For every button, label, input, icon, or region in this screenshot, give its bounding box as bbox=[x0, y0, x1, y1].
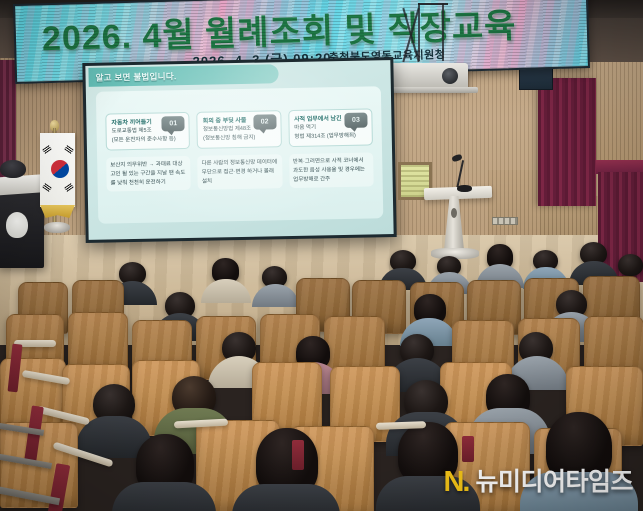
audience-shoulders bbox=[112, 482, 216, 511]
wall-outlet-icon bbox=[492, 217, 518, 225]
taegeuk-icon bbox=[51, 160, 69, 178]
card-note-3: 형법 제314조 (업무방해죄) bbox=[294, 132, 366, 141]
card-note-1: (모든 운전자의 준수사항 등) bbox=[112, 136, 184, 145]
card-badge-3: 03 bbox=[344, 113, 367, 128]
card-badge-2: 02 bbox=[253, 114, 276, 129]
audience-shoulders bbox=[252, 284, 299, 307]
emblem-icon bbox=[6, 212, 28, 238]
card-badge-1: 01 bbox=[162, 116, 185, 131]
slide-header-text: 알고 보면 불법입니다. bbox=[88, 70, 176, 84]
projector-mount-icon bbox=[398, 3, 464, 67]
audience-shoulders bbox=[232, 484, 340, 511]
projection-screen: 알고 보면 불법입니다. 01 자동차 끼어들기 도로교통법 제5조 (모든 운… bbox=[82, 57, 396, 243]
slide-body: 01 자동차 끼어들기 도로교통법 제5조 (모든 운전자의 준수사항 등) 보… bbox=[96, 86, 383, 223]
aisle-rail bbox=[462, 436, 474, 462]
flag-stand-base bbox=[44, 222, 70, 233]
slide-card-1: 01 자동차 끼어들기 도로교통법 제5조 (모든 운전자의 준수사항 등) 보… bbox=[105, 112, 191, 214]
watermark: N. 뉴미디어타임즈 bbox=[443, 468, 633, 497]
microphone-base bbox=[457, 185, 472, 192]
slide-header-bar: 알고 보면 불법입니다. bbox=[88, 64, 278, 87]
audience-shoulders bbox=[201, 279, 251, 303]
card-note-2: (정보통신망 침해 금지) bbox=[203, 134, 275, 143]
card-detail-2: 다른 사람의 정보통신망 데이터에 무단으로 접근·변경 하거나 몰래 설치 bbox=[197, 155, 282, 190]
korean-flag-icon bbox=[40, 133, 75, 207]
watermark-text: 뉴미디어타임즈 bbox=[475, 470, 633, 495]
right-curtain bbox=[538, 78, 596, 206]
photo-scene: 2026. 4월 월례조회 및 직장교육 2026. 4. 3.(금) 09:2… bbox=[0, 0, 643, 511]
projector-lens-icon bbox=[442, 68, 458, 84]
lectern-detail bbox=[451, 208, 457, 218]
aisle-rail bbox=[292, 440, 304, 470]
slide-card-2: 02 회의 중 부딪 사물 정보통신망법 제48조 (정보통신망 침해 금지) … bbox=[197, 110, 283, 212]
slide-card-3: 03 사적 업무에서 남긴 마음 먹기 형법 제314조 (업무방해죄) 반복·… bbox=[288, 108, 374, 210]
podium-object bbox=[0, 160, 26, 178]
audience-head bbox=[618, 254, 643, 276]
card-detail-1: 보산지 의무위반 → 과태료 대상 고인 될 있는 구간을 지날 땐 속도를 낮… bbox=[106, 156, 191, 191]
newmedia-logo-icon: N. bbox=[443, 468, 468, 497]
card-detail-3: 반복·그러면으로 사적 코너에서 과도한 음성 사용을 및 경우에는 업무방해로… bbox=[289, 153, 374, 188]
